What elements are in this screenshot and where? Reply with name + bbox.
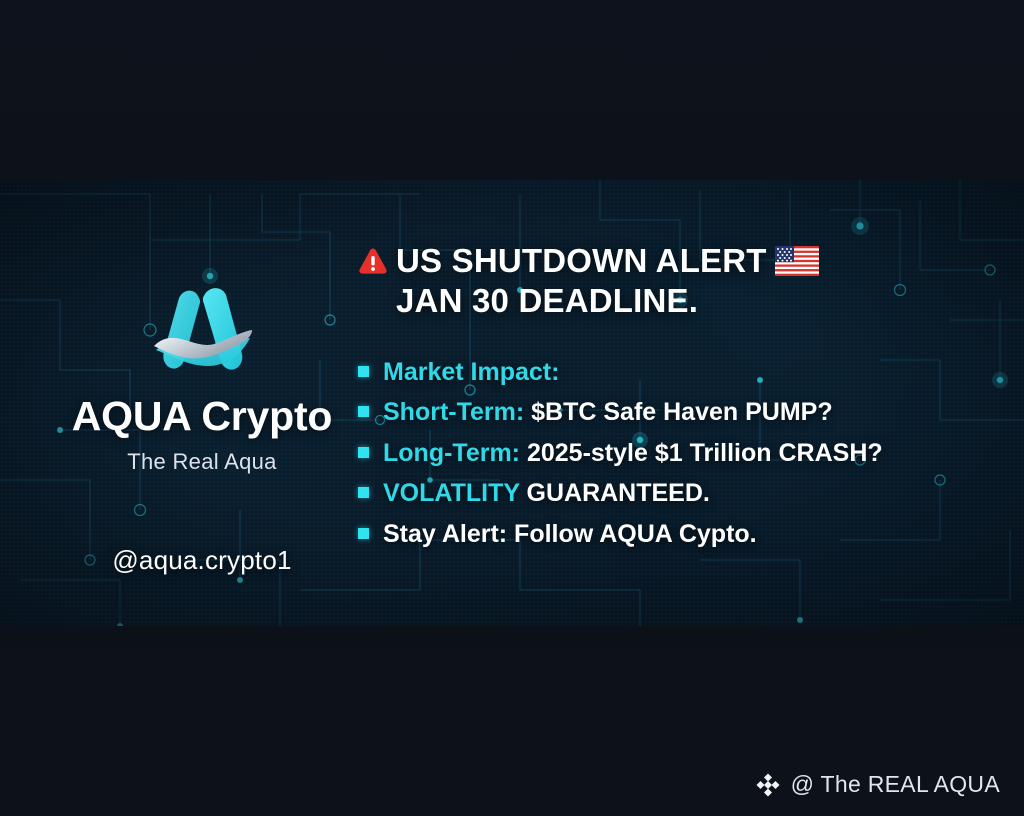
square-bullet-icon xyxy=(358,406,369,417)
binance-diamond-icon xyxy=(755,772,781,798)
list-item: Market Impact: xyxy=(358,359,1004,387)
bullet-rest: GUARANTEED. xyxy=(520,479,710,507)
bullet-accent: VOLATLITY xyxy=(383,479,520,507)
headline-line-1: US SHUTDOWN ALERT xyxy=(358,242,1004,280)
watermark: @ The REAL AQUA xyxy=(755,771,1000,798)
square-bullet-icon xyxy=(358,528,369,539)
brand-tagline: The Real Aqua xyxy=(22,449,382,475)
brand-name: AQUA Crypto xyxy=(22,396,382,437)
brand-handle: @aqua.crypto1 xyxy=(22,545,382,576)
square-bullet-icon xyxy=(358,366,369,377)
bullet-list: Market Impact: Short-Term: $BTC Safe Hav… xyxy=(358,359,1004,549)
content-block: US SHUTDOWN ALERT xyxy=(358,242,1004,561)
list-item: VOLATLITY GUARANTEED. xyxy=(358,480,1004,508)
brand-block: AQUA Crypto The Real Aqua xyxy=(22,280,382,475)
promo-banner: AQUA Crypto The Real Aqua @aqua.crypto1 … xyxy=(0,180,1024,626)
headline-text-1: US SHUTDOWN ALERT xyxy=(396,242,767,280)
list-item: Stay Alert: Follow AQUA Cypto. xyxy=(358,521,1004,549)
watermark-text: @ The REAL AQUA xyxy=(791,771,1000,798)
bullet-rest: Stay Alert: Follow AQUA Cypto. xyxy=(383,520,757,548)
list-item: Short-Term: $BTC Safe Haven PUMP? xyxy=(358,399,1004,427)
page-background: AQUA Crypto The Real Aqua @aqua.crypto1 … xyxy=(0,0,1024,816)
list-item: Long-Term: 2025-style $1 Trillion CRASH? xyxy=(358,440,1004,468)
bullet-rest: 2025-style $1 Trillion CRASH? xyxy=(520,439,883,467)
headline-line-2: JAN 30 DEADLINE. xyxy=(358,282,1004,320)
aqua-a-wave-logo-icon xyxy=(142,280,262,384)
bullet-rest: $BTC Safe Haven PUMP? xyxy=(524,398,832,426)
bullet-accent: Market Impact: xyxy=(383,358,559,386)
square-bullet-icon xyxy=(358,447,369,458)
warning-triangle-icon xyxy=(358,246,388,276)
bullet-accent: Long-Term: xyxy=(383,439,520,467)
us-flag-icon xyxy=(775,246,819,276)
square-bullet-icon xyxy=(358,487,369,498)
bullet-accent: Short-Term: xyxy=(383,398,524,426)
